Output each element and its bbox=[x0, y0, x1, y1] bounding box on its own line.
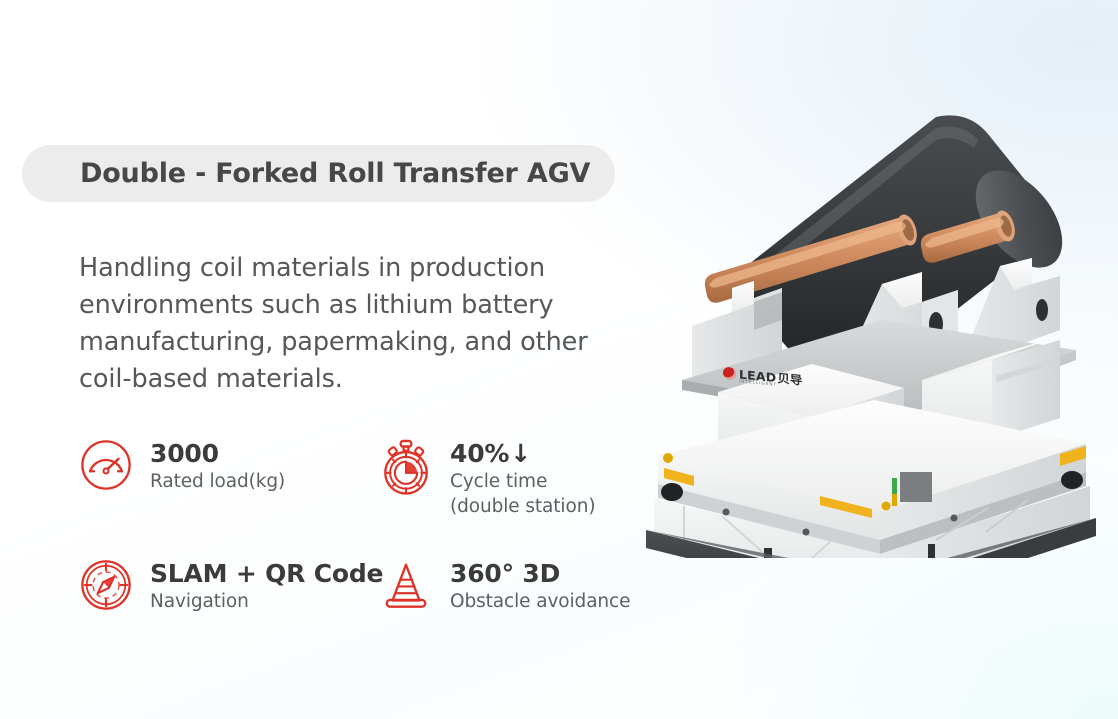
description-paragraph: Handling coil materials in production en… bbox=[79, 250, 644, 398]
stat-value-number: 3000 bbox=[150, 439, 219, 469]
left-content-column: Double - Forked Roll Transfer AGV Handli… bbox=[0, 0, 660, 719]
stat-label-line-2: (double station) bbox=[450, 496, 595, 517]
stat-value-number: 360° 3D bbox=[450, 559, 560, 589]
stat-item-navigation: SLAM + QR Code Navigation bbox=[78, 558, 378, 616]
traffic-cone-icon bbox=[378, 558, 434, 616]
stat-item-rated-load: 3000 Rated load(kg) bbox=[78, 438, 378, 558]
stopwatch-icon bbox=[378, 438, 434, 496]
stat-text-block: SLAM + QR Code Navigation bbox=[150, 558, 383, 614]
stat-item-obstacle-avoidance: 360° 3D Obstacle avoidance bbox=[378, 558, 648, 616]
stat-value-number: SLAM + QR Code bbox=[150, 559, 383, 589]
stat-item-cycle-time: 40% ↓ Cycle time (double station) bbox=[378, 438, 648, 558]
wheel-housing bbox=[661, 483, 683, 501]
stat-label-line-1: Navigation bbox=[150, 591, 249, 612]
stat-value: 40% ↓ bbox=[450, 439, 648, 469]
stat-text-block: 40% ↓ Cycle time (double station) bbox=[450, 438, 648, 519]
stat-value: 3000 bbox=[150, 439, 285, 469]
stats-row: 3000 Rated load(kg) bbox=[78, 438, 648, 558]
stat-label-line-1: Rated load(kg) bbox=[150, 471, 285, 492]
wheel-housing bbox=[1061, 471, 1083, 489]
gauge-icon bbox=[78, 438, 134, 496]
agv-product-image bbox=[636, 88, 1106, 558]
stat-value: SLAM + QR Code bbox=[150, 559, 383, 589]
down-arrow-icon: ↓ bbox=[510, 439, 531, 469]
stats-grid: 3000 Rated load(kg) bbox=[78, 438, 648, 616]
stat-label-line-1: Obstacle avoidance bbox=[450, 591, 630, 612]
stat-label-line-1: Cycle time bbox=[450, 471, 547, 492]
stat-value-number: 40% bbox=[450, 439, 509, 469]
stats-row: SLAM + QR Code Navigation bbox=[78, 558, 648, 616]
compass-icon bbox=[78, 558, 134, 616]
title-pill: Double - Forked Roll Transfer AGV bbox=[22, 145, 615, 202]
stat-text-block: 360° 3D Obstacle avoidance bbox=[450, 558, 630, 614]
stat-value: 360° 3D bbox=[450, 559, 630, 589]
page-title: Double - Forked Roll Transfer AGV bbox=[80, 158, 590, 189]
stat-text-block: 3000 Rated load(kg) bbox=[150, 438, 285, 494]
